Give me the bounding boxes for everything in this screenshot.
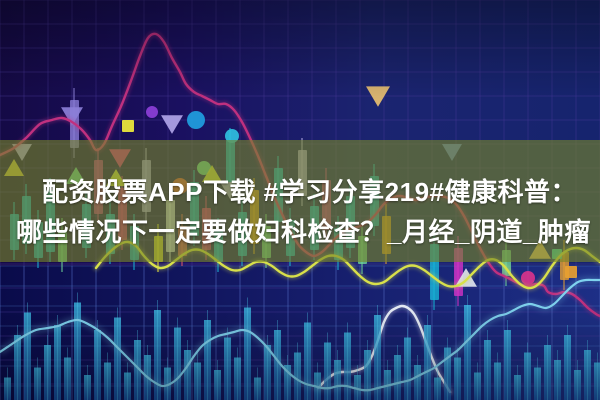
stock-chart-image: 配资股票APP下载 #学习分享219#健康科普： 哪些情况下一定要做妇科检查？_… [0, 0, 600, 400]
chart-canvas [0, 0, 600, 400]
vignette-overlay [0, 0, 600, 400]
